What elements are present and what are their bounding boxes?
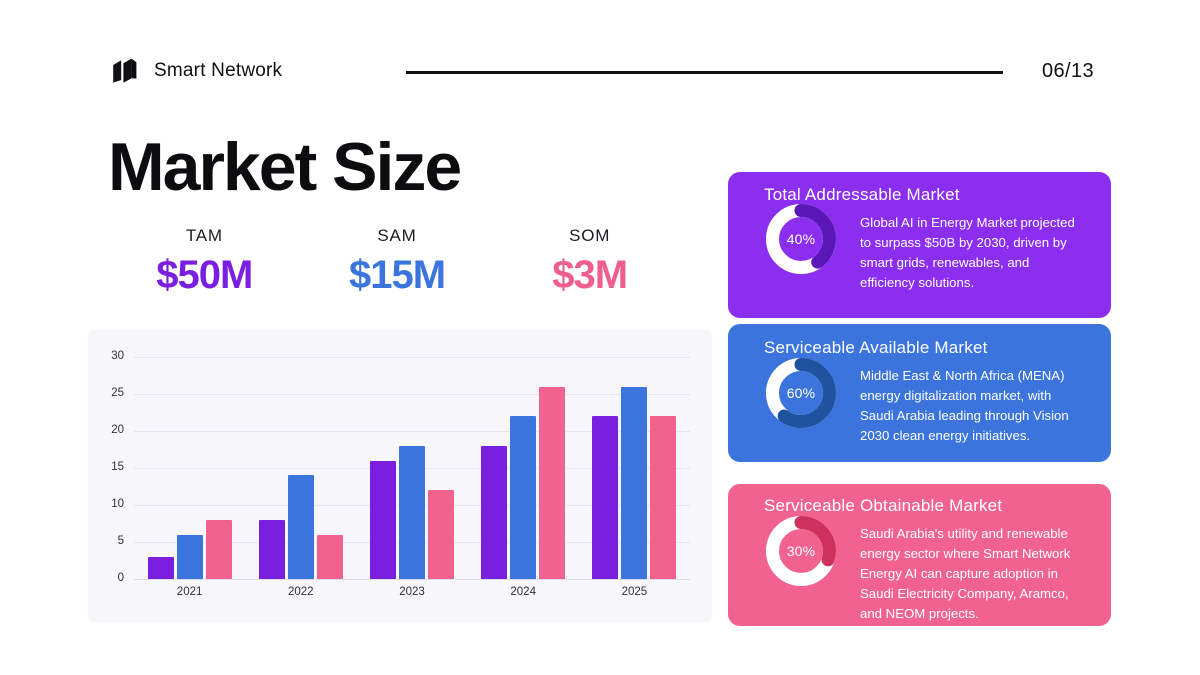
donut-chart-som: 30% [766,516,836,586]
metric-som: SOM $3M [493,226,686,297]
brand-name: Smart Network [154,60,282,82]
chart-inner: 05101520253020212022202320242025 [88,330,712,622]
card-body: Saudi Arabia's utility and renewable ene… [860,524,1087,624]
chart-bar [370,461,396,579]
chart-bar [177,535,203,579]
donut-chart-tam: 40% [766,204,836,274]
chart-gridline [134,579,690,580]
chart-bar [399,446,425,579]
page-number: 06/13 [1042,60,1094,83]
donut-label: 30% [766,516,836,586]
chart-bar [317,535,343,579]
header-divider [406,71,1003,74]
slide-market-size: Smart Network 06/13 Market Size TAM $50M… [0,0,1200,675]
card-body: Middle East & North Africa (MENA) energy… [860,366,1087,446]
card-title: Total Addressable Market [764,185,960,205]
y-axis-tick-label: 20 [90,425,124,437]
metrics-row: TAM $50M SAM $15M SOM $3M [108,226,686,297]
metric-sam-label: SAM [301,226,494,246]
chart-bar [539,387,565,579]
x-axis-tick-label: 2025 [579,586,689,598]
chart-bar [148,557,174,579]
metric-tam-value: $50M [108,253,301,297]
card-serviceable-available-market[interactable]: Serviceable Available Market 60% Middle … [728,324,1111,462]
x-axis-tick-label: 2022 [246,586,356,598]
chart-bar-group [592,357,676,579]
chart-bar-group [148,357,232,579]
chart-bar-group [370,357,454,579]
donut-label: 40% [766,204,836,274]
page-title: Market Size [108,132,460,203]
metric-sam: SAM $15M [301,226,494,297]
chart-bar [288,475,314,579]
card-body: Global AI in Energy Market projected to … [860,213,1087,293]
x-axis-tick-label: 2021 [135,586,245,598]
chart-bar-group [481,357,565,579]
chart-bar [592,416,618,579]
donut-chart-sam: 60% [766,358,836,428]
brand: Smart Network [110,56,282,86]
smart-network-logo-icon [110,56,140,86]
y-axis-tick-label: 25 [90,388,124,400]
chart-bar [481,446,507,579]
x-axis-tick-label: 2024 [468,586,578,598]
chart-bar-group [259,357,343,579]
card-title: Serviceable Obtainable Market [764,496,1002,516]
card-total-addressable-market[interactable]: Total Addressable Market 40% Global AI i… [728,172,1111,318]
metric-tam-label: TAM [108,226,301,246]
x-axis-tick-label: 2023 [357,586,467,598]
card-title: Serviceable Available Market [764,338,988,358]
metric-sam-value: $15M [301,253,494,297]
market-growth-bar-chart: 05101520253020212022202320242025 [88,330,712,622]
chart-bar [428,490,454,579]
y-axis-tick-label: 15 [90,462,124,474]
chart-bar [650,416,676,579]
slide-header: Smart Network 06/13 [0,0,1200,120]
metric-tam: TAM $50M [108,226,301,297]
y-axis-tick-label: 0 [90,573,124,585]
donut-label: 60% [766,358,836,428]
chart-bar [510,416,536,579]
y-axis-tick-label: 5 [90,536,124,548]
metric-som-value: $3M [493,253,686,297]
y-axis-tick-label: 10 [90,499,124,511]
chart-bar [621,387,647,579]
metric-som-label: SOM [493,226,686,246]
card-serviceable-obtainable-market[interactable]: Serviceable Obtainable Market 30% Saudi … [728,484,1111,626]
y-axis-tick-label: 30 [90,351,124,363]
chart-bar [206,520,232,579]
chart-bar [259,520,285,579]
